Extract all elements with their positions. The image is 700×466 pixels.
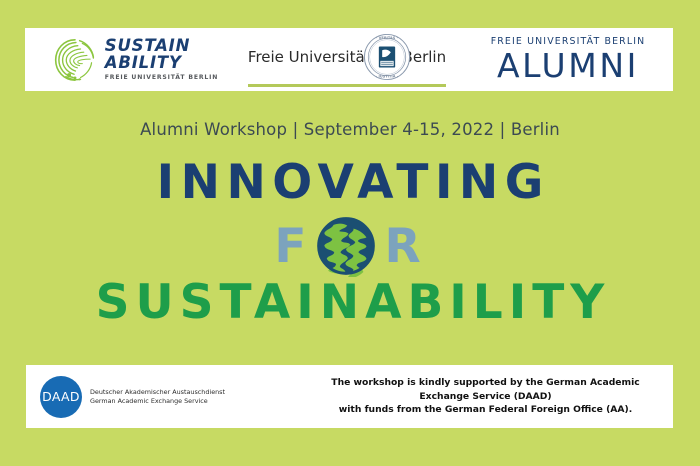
sustainability-fingerprint-icon xyxy=(52,37,98,83)
globe-icon xyxy=(315,215,377,277)
sustainability-line3: FREIE UNIVERSITÄT BERLIN xyxy=(105,75,218,81)
daad-line-german: Deutscher Akademischer Austauschdienst xyxy=(90,388,225,396)
logo-daad: DAAD Deutscher Akademischer Austauschdie… xyxy=(26,376,316,418)
daad-line-english: German Academic Exchange Service xyxy=(90,397,225,405)
logo-sustainability: SUSTAIN ABILITY FREIE UNIVERSITÄT BERLIN xyxy=(25,28,231,91)
logo-fu-alumni: FREIE UNIVERSITÄT BERLIN ALUMNI xyxy=(463,28,673,91)
fu-logo-left-text: Freie Universität xyxy=(248,48,371,66)
support-statement-line1: The workshop is kindly supported by the … xyxy=(316,376,655,404)
fu-logo-underline xyxy=(248,84,446,87)
headline-innovating: INNOVATING xyxy=(0,159,700,206)
logo-freie-universitaet-berlin: Freie Universität · VERITAS · · IUSTITIA… xyxy=(231,28,463,91)
header-logo-bar: SUSTAIN ABILITY FREIE UNIVERSITÄT BERLIN… xyxy=(25,28,673,91)
support-statement: The workshop is kindly supported by the … xyxy=(316,376,673,417)
for-letter-r: R xyxy=(384,223,425,270)
support-statement-line2: with funds from the German Federal Forei… xyxy=(316,403,655,417)
alumni-wordmark: ALUMNI xyxy=(491,49,646,82)
svg-text:· IUSTITIA ·: · IUSTITIA · xyxy=(375,74,397,78)
event-subtitle: Alumni Workshop | September 4-15, 2022 |… xyxy=(0,120,700,139)
sustainability-line2: ABILITY xyxy=(105,55,218,72)
headline-sustainability: SUSTAINABILITY xyxy=(0,279,700,326)
fu-berlin-seal-icon: · VERITAS · · IUSTITIA · xyxy=(363,33,411,81)
for-letter-f: F xyxy=(274,223,311,270)
headline-for-row: F R xyxy=(0,214,700,278)
poster-canvas: SUSTAIN ABILITY FREIE UNIVERSITÄT BERLIN… xyxy=(0,0,700,466)
daad-circle-logo: DAAD xyxy=(40,376,82,418)
svg-text:· VERITAS ·: · VERITAS · xyxy=(376,36,398,40)
sustainability-line1: SUSTAIN xyxy=(105,38,218,55)
footer-bar: DAAD Deutscher Akademischer Austauschdie… xyxy=(26,365,673,428)
